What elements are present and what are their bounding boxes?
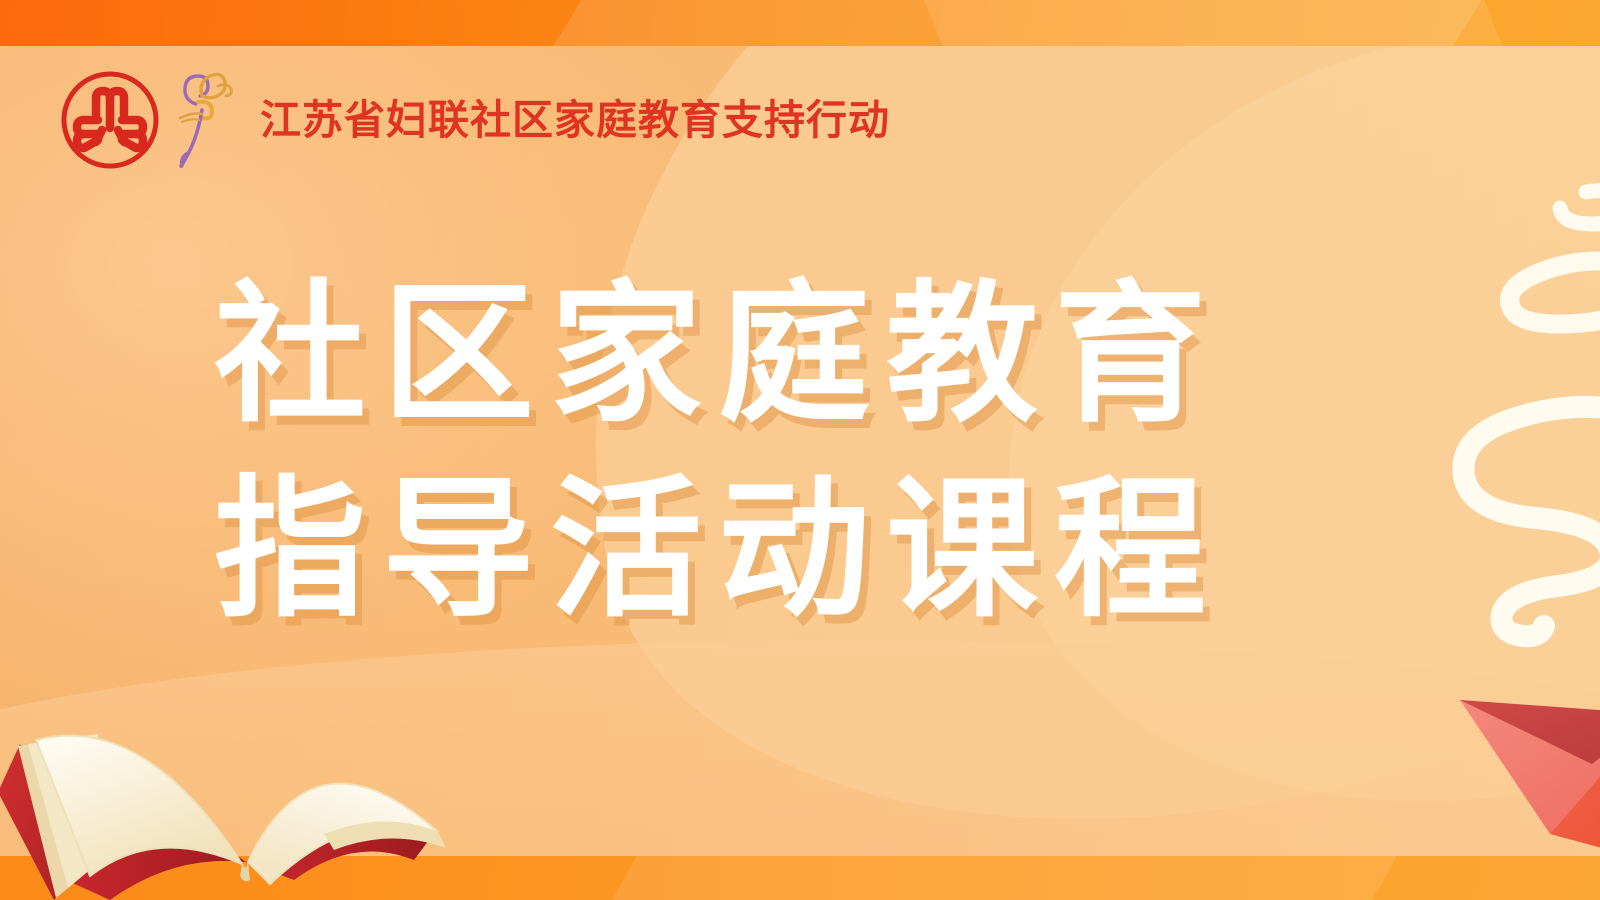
- title-line-2: 指导活动课程: [214, 453, 1222, 648]
- top-bar-sheen-secondary: [914, 0, 1527, 46]
- stylized-flower-mark-icon: [168, 62, 238, 174]
- top-accent-bar: [0, 0, 1600, 46]
- title-line-1: 社区家庭教育: [214, 258, 1222, 453]
- acwf-plum-blossom-emblem-icon: [58, 68, 162, 172]
- main-title: 社区家庭教育 指导活动课程: [214, 258, 1222, 647]
- open-book-icon: [0, 684, 464, 900]
- brand-lockup: 江苏省妇联社区家庭教育支持行动: [58, 66, 890, 174]
- course-banner: 江苏省妇联社区家庭教育支持行动 社区家庭教育 指导活动课程: [0, 0, 1600, 900]
- ribbon-squiggle-icon: [1436, 178, 1600, 398]
- ribbon-squiggle-icon: [1430, 388, 1600, 648]
- paper-plane-icon: [1424, 652, 1600, 862]
- organization-title: 江苏省妇联社区家庭教育支持行动: [260, 100, 890, 141]
- bottom-bar-sheen: [580, 856, 1421, 900]
